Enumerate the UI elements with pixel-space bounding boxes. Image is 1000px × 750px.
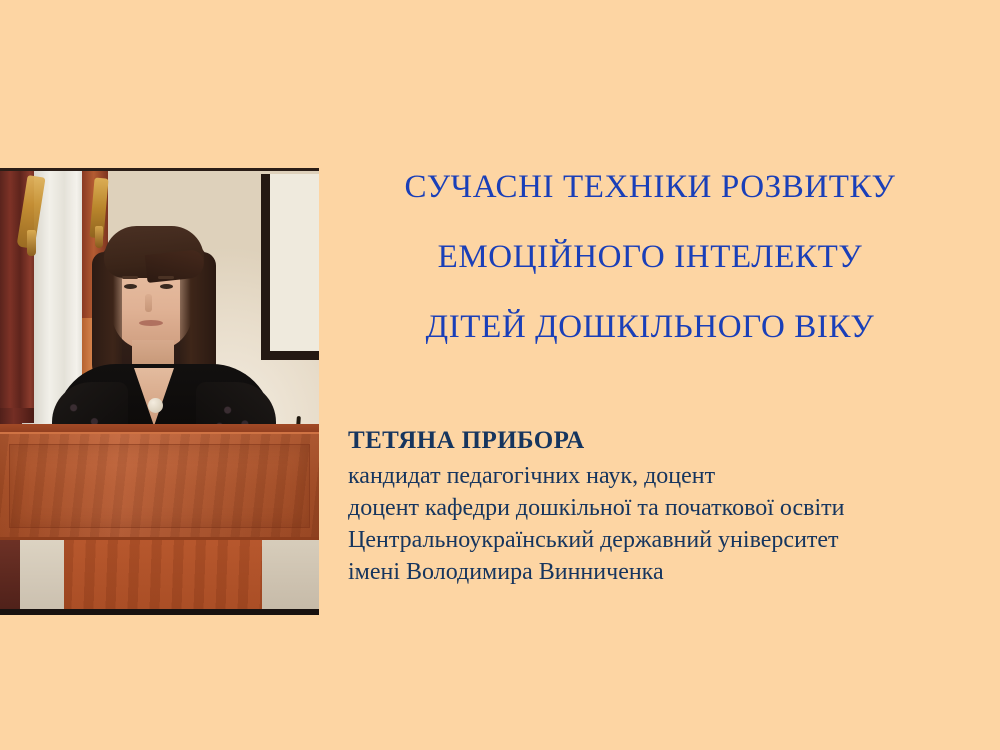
eyebrow-left xyxy=(122,276,138,279)
mouth xyxy=(139,320,163,326)
floor-shadow xyxy=(0,536,20,614)
podium-base xyxy=(64,536,262,614)
title-line-3: ДІТЕЙ ДОШКІЛЬНОГО ВІКУ xyxy=(336,292,964,362)
title-line-1: СУЧАСНІ ТЕХНІКИ РОЗВИТКУ xyxy=(336,152,964,222)
photo-bottom-border xyxy=(0,609,319,615)
nose xyxy=(145,294,152,312)
photo-scene xyxy=(0,168,319,615)
eyebrow-right xyxy=(158,276,174,279)
author-position: доцент кафедри дошкільної та початкової … xyxy=(348,492,978,524)
brooch xyxy=(148,398,163,413)
author-degree: кандидат педагогічних наук, доцент xyxy=(348,460,978,492)
author-institution-name: імені Володимира Винниченка xyxy=(348,556,978,588)
photo-top-border xyxy=(0,168,319,171)
slide-title: СУЧАСНІ ТЕХНІКИ РОЗВИТКУ ЕМОЦІЙНОГО ІНТЕ… xyxy=(336,152,964,362)
projector-screen-frame xyxy=(261,174,319,360)
floor-right xyxy=(258,536,319,614)
presenter-photo xyxy=(0,168,319,615)
curtain-tassel xyxy=(27,230,36,256)
author-info: ТЕТЯНА ПРИБОРА кандидат педагогічних нау… xyxy=(348,424,978,588)
eye-left xyxy=(124,284,137,289)
eye-right xyxy=(160,284,173,289)
podium-inset-molding xyxy=(9,444,310,528)
presentation-slide: СУЧАСНІ ТЕХНІКИ РОЗВИТКУ ЕМОЦІЙНОГО ІНТЕ… xyxy=(0,0,1000,750)
title-line-2: ЕМОЦІЙНОГО ІНТЕЛЕКТУ xyxy=(336,222,964,292)
author-institution: Центральноукраїнський державний універси… xyxy=(348,524,978,556)
author-name: ТЕТЯНА ПРИБОРА xyxy=(348,424,978,458)
curtain-tassel xyxy=(95,226,103,248)
